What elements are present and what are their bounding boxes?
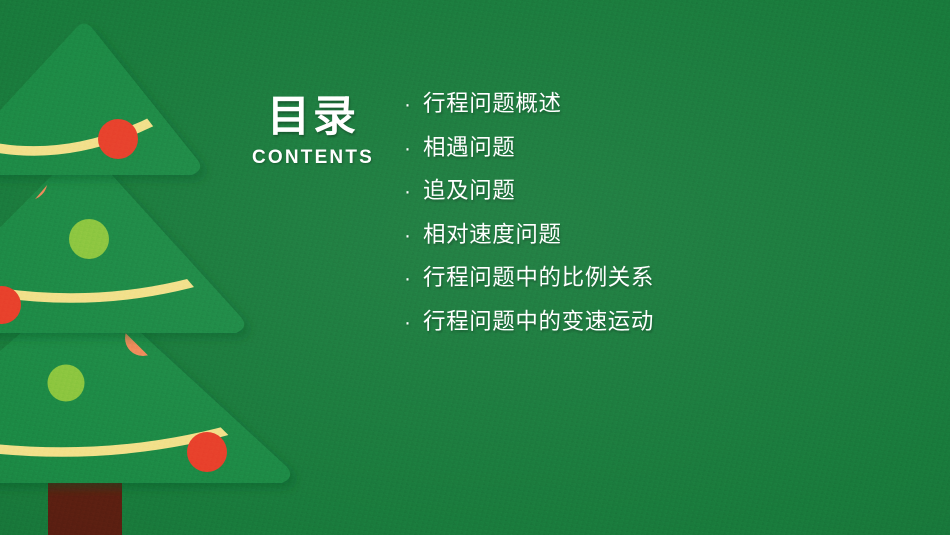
list-item[interactable]: · 相遇问题: [404, 130, 654, 174]
bullet-icon: ·: [404, 138, 423, 159]
slide-canvas: 目录 CONTENTS · 行程问题概述 · 相遇问题 · 追及问题 · 相对速…: [0, 0, 950, 535]
bullet-icon: ·: [404, 268, 423, 289]
bullet-icon: ·: [404, 312, 423, 333]
bullet-icon: ·: [404, 94, 423, 115]
list-item[interactable]: · 行程问题中的变速运动: [404, 304, 654, 348]
page-subtitle: CONTENTS: [248, 147, 378, 169]
list-item-label: 行程问题概述: [423, 86, 562, 118]
list-item-label: 行程问题中的比例关系: [423, 260, 654, 292]
list-item[interactable]: · 行程问题概述: [404, 86, 654, 130]
bullet-icon: ·: [404, 181, 423, 202]
list-item-label: 追及问题: [423, 173, 515, 205]
list-item-label: 相对速度问题: [423, 217, 562, 249]
list-item[interactable]: · 相对速度问题: [404, 217, 654, 261]
slide-text-content: 目录 CONTENTS · 行程问题概述 · 相遇问题 · 追及问题 · 相对速…: [0, 0, 950, 535]
list-item[interactable]: · 行程问题中的比例关系: [404, 260, 654, 304]
page-title-group: 目录 CONTENTS: [248, 96, 378, 169]
list-item[interactable]: · 追及问题: [404, 173, 654, 217]
table-of-contents-list: · 行程问题概述 · 相遇问题 · 追及问题 · 相对速度问题 · 行程问题中的…: [404, 86, 654, 348]
list-item-label: 行程问题中的变速运动: [423, 304, 654, 336]
bullet-icon: ·: [404, 225, 423, 246]
list-item-label: 相遇问题: [423, 130, 515, 162]
page-title: 目录: [248, 96, 378, 140]
